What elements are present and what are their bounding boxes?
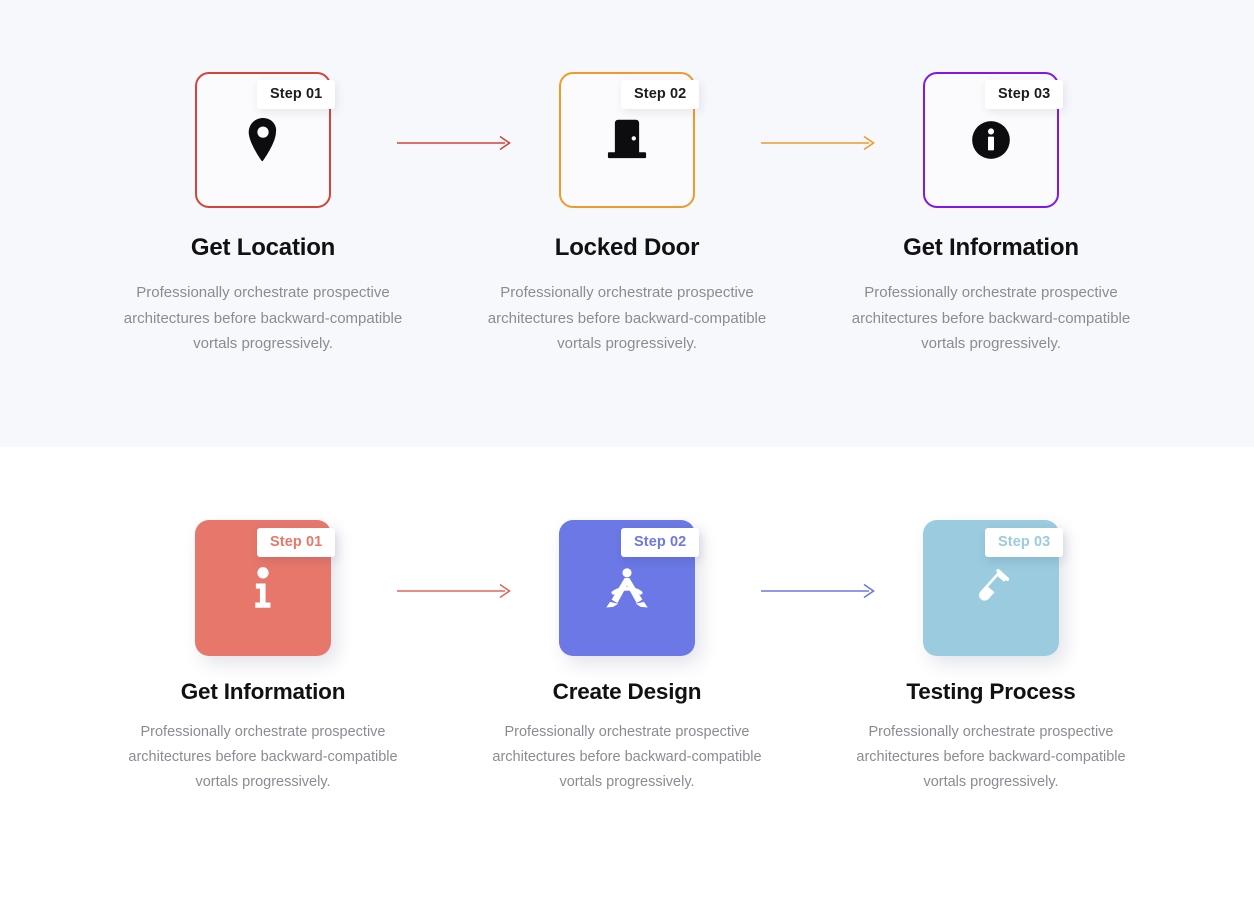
step-arrow-icon xyxy=(397,582,515,600)
step-item: Step 02 Locked Door Professionally orche… xyxy=(445,72,809,357)
step-badge: Step 02 xyxy=(621,80,699,109)
step-item: Step 03 Get Information Professionally o… xyxy=(809,72,1173,357)
step-badge: Step 01 xyxy=(257,528,335,557)
steps-row-filled: Step 01 Get Information Professionally o… xyxy=(0,520,1254,795)
step-badge: Step 03 xyxy=(985,528,1063,557)
step-arrow-icon xyxy=(761,134,879,152)
step-description: Professionally orchestrate prospective a… xyxy=(841,720,1141,795)
step-title: Locked Door xyxy=(555,234,699,263)
step-title: Testing Process xyxy=(906,678,1075,705)
step-card-wrap[interactable]: Step 01 xyxy=(195,72,331,208)
step-card-wrap[interactable]: Step 02 xyxy=(559,72,695,208)
step-arrow-icon xyxy=(397,134,515,152)
step-title: Get Location xyxy=(191,234,335,263)
step-title: Create Design xyxy=(553,678,702,705)
step-item: Step 02 Create Design Professionally orc… xyxy=(445,520,809,795)
step-item: Step 03 Testing Process Professionally o… xyxy=(809,520,1173,795)
step-card-wrap[interactable]: Step 03 xyxy=(923,520,1059,656)
step-title: Get Information xyxy=(903,234,1079,263)
step-arrow-icon xyxy=(761,582,879,600)
compass-divider-icon xyxy=(605,567,649,609)
door-icon xyxy=(602,119,652,161)
info-letter-icon xyxy=(250,567,276,609)
steps-row-outline: Step 01 Get Location Professionally orch… xyxy=(0,72,1254,357)
step-item: Step 01 Get Location Professionally orch… xyxy=(81,72,445,357)
step-badge: Step 01 xyxy=(257,80,335,109)
step-description: Professionally orchestrate prospective a… xyxy=(113,280,413,357)
step-card-wrap[interactable]: Step 03 xyxy=(923,72,1059,208)
test-tube-icon xyxy=(971,567,1011,609)
step-card-wrap[interactable]: Step 01 xyxy=(195,520,331,656)
step-description: Professionally orchestrate prospective a… xyxy=(477,280,777,357)
step-item: Step 01 Get Information Professionally o… xyxy=(81,520,445,795)
step-badge: Step 02 xyxy=(621,528,699,557)
info-circle-icon xyxy=(971,120,1011,160)
step-description: Professionally orchestrate prospective a… xyxy=(477,720,777,795)
process-steps-page: Step 01 Get Location Professionally orch… xyxy=(0,0,1254,897)
step-title: Get Information xyxy=(181,678,346,705)
map-pin-icon xyxy=(246,118,280,162)
outline-steps-section: Step 01 Get Location Professionally orch… xyxy=(0,0,1254,447)
step-badge: Step 03 xyxy=(985,80,1063,109)
step-card-wrap[interactable]: Step 02 xyxy=(559,520,695,656)
step-description: Professionally orchestrate prospective a… xyxy=(841,280,1141,357)
filled-steps-section: Step 01 Get Information Professionally o… xyxy=(0,447,1254,897)
step-description: Professionally orchestrate prospective a… xyxy=(113,720,413,795)
